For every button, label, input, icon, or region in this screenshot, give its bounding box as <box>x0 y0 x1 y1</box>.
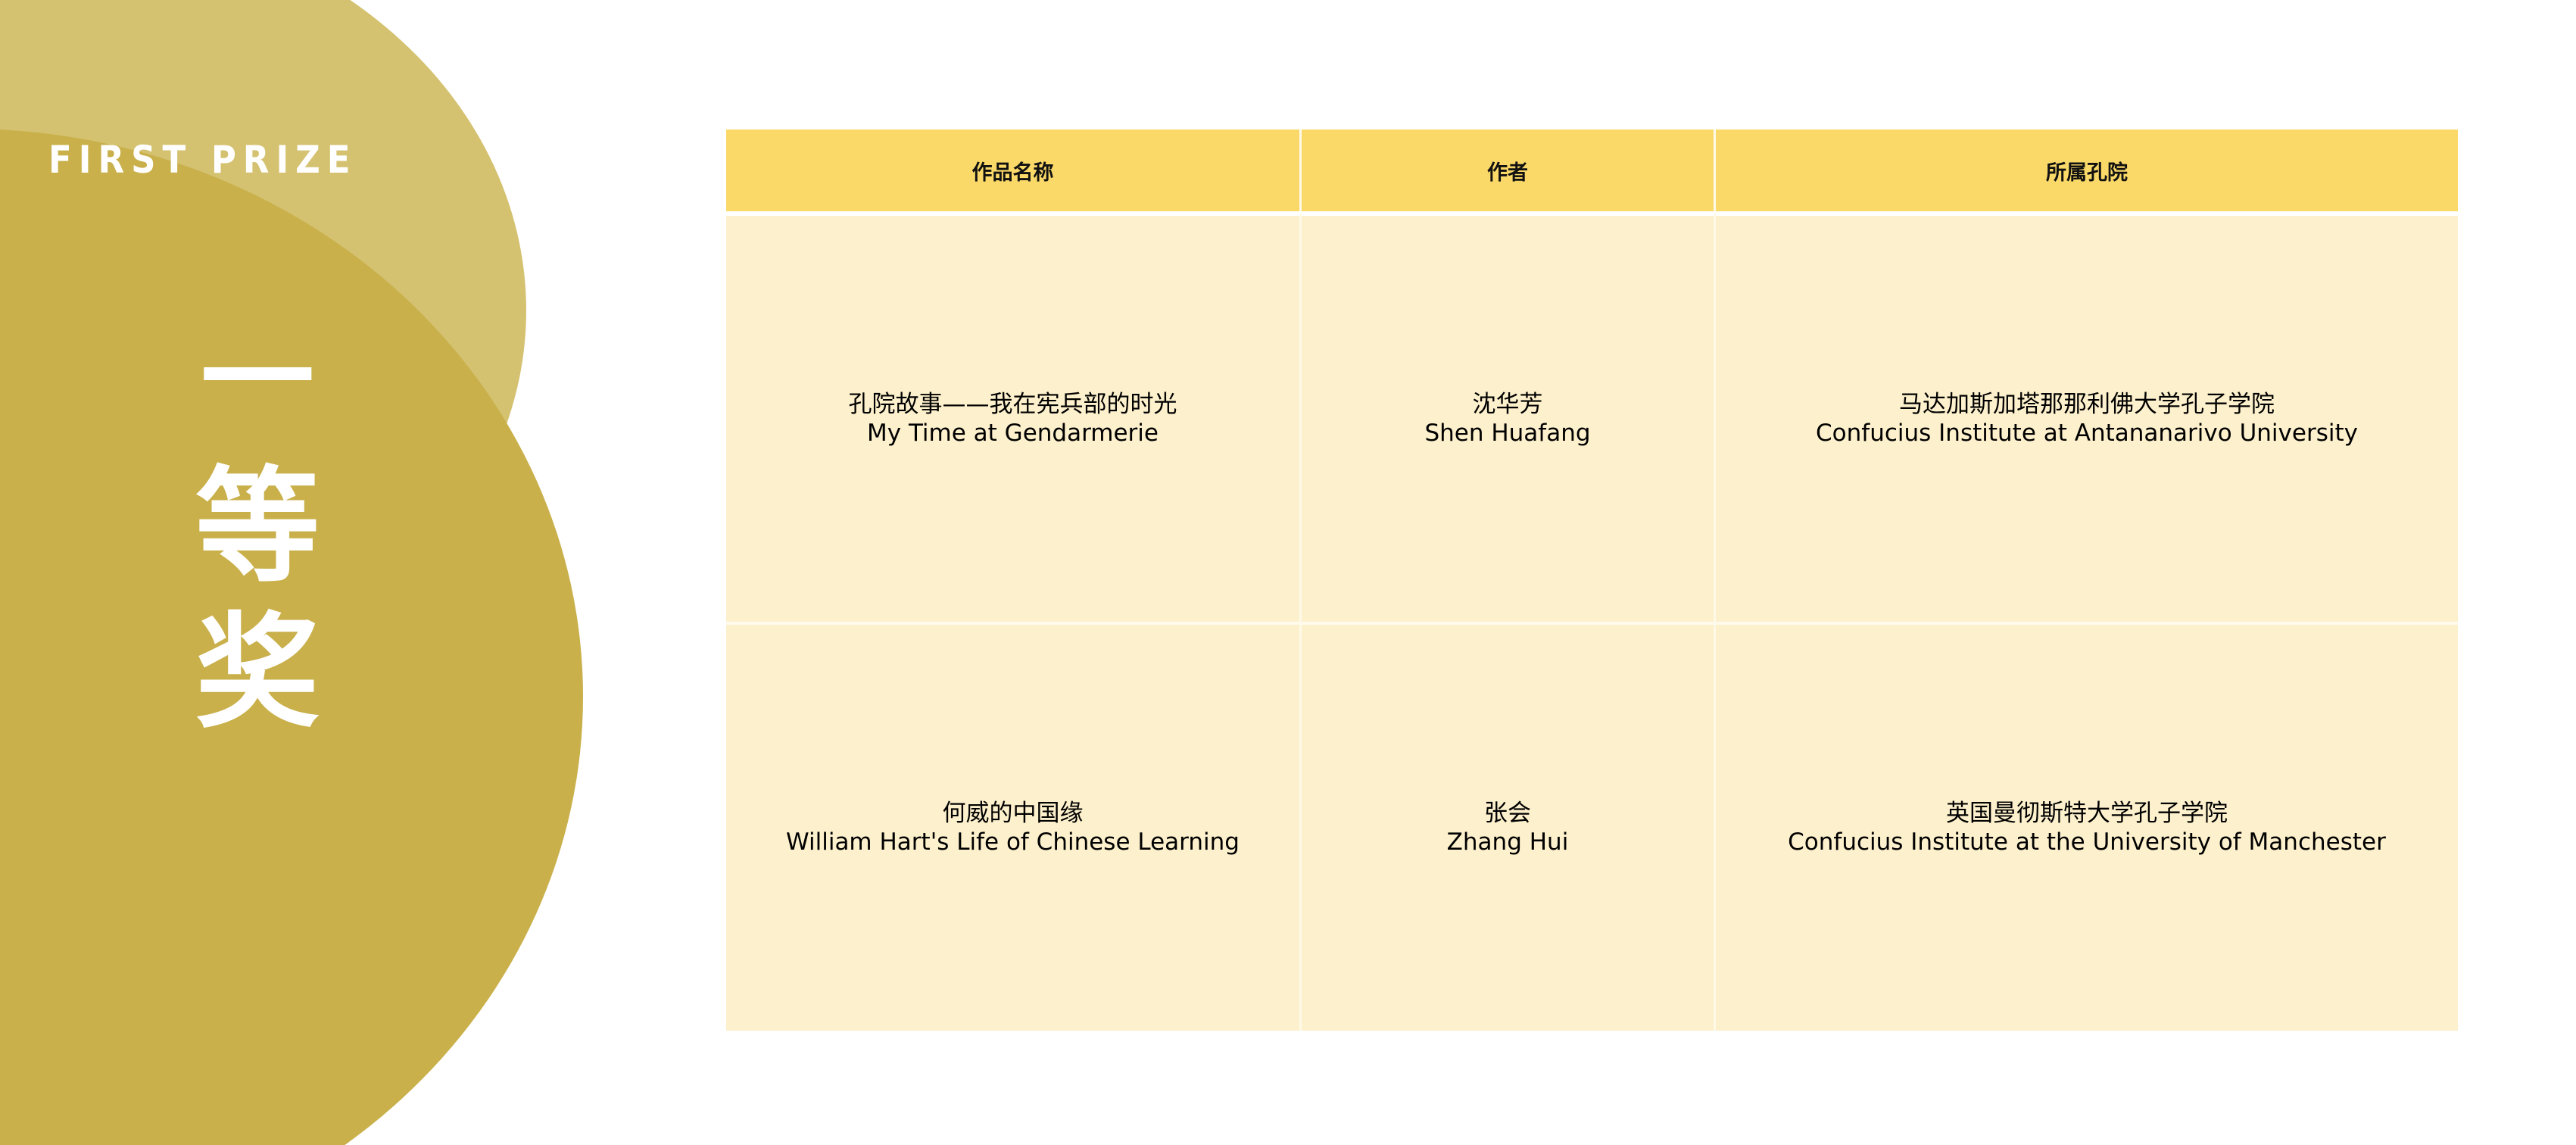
institute-zh: 英国曼彻斯特大学孔子学院 <box>1732 799 2441 828</box>
author-zh: 沈华芳 <box>1318 390 1697 419</box>
column-header-title: 作品名称 <box>726 129 1302 211</box>
winners-table: 作品名称 作者 所属孔院 孔院故事——我在宪兵部的时光 My Time at G… <box>726 129 2458 1031</box>
table-row: 何威的中国缘 William Hart's Life of Chinese Le… <box>726 622 2458 1031</box>
column-header-author: 作者 <box>1302 129 1716 211</box>
cell-author: 沈华芳 Shen Huafang <box>1302 211 1716 622</box>
work-title-zh: 何威的中国缘 <box>743 799 1283 828</box>
author-en: Shen Huafang <box>1318 419 1697 448</box>
author-en: Zhang Hui <box>1318 828 1697 856</box>
award-panel: FIRST PRIZE 一 等 奖 <box>0 0 606 1145</box>
column-header-institute: 所属孔院 <box>1716 129 2458 211</box>
work-title-en: William Hart's Life of Chinese Learning <box>743 828 1283 856</box>
institute-en: Confucius Institute at the University of… <box>1732 828 2441 856</box>
cell-work-title: 孔院故事——我在宪兵部的时光 My Time at Gendarmerie <box>726 211 1302 622</box>
award-rank-char-jiang: 奖 <box>0 600 515 747</box>
institute-en: Confucius Institute at Antananarivo Univ… <box>1732 419 2441 448</box>
cell-institute: 英国曼彻斯特大学孔子学院 Confucius Institute at the … <box>1716 622 2458 1031</box>
work-title-en: My Time at Gendarmerie <box>743 419 1283 448</box>
award-rank-char-deng: 等 <box>0 454 515 601</box>
table-row: 孔院故事——我在宪兵部的时光 My Time at Gendarmerie 沈华… <box>726 211 2458 622</box>
work-title-zh: 孔院故事——我在宪兵部的时光 <box>743 390 1283 419</box>
author-zh: 张会 <box>1318 799 1697 828</box>
institute-zh: 马达加斯加塔那那利佛大学孔子学院 <box>1732 390 2441 419</box>
award-rank-word: 等 奖 <box>0 454 515 747</box>
first-prize-english-label: FIRST PRIZE <box>48 141 357 179</box>
cell-author: 张会 Zhang Hui <box>1302 622 1716 1031</box>
award-rank-stack: 一 等 奖 <box>0 326 515 747</box>
table-header-row: 作品名称 作者 所属孔院 <box>726 129 2458 211</box>
cell-institute: 马达加斯加塔那那利佛大学孔子学院 Confucius Institute at … <box>1716 211 2458 622</box>
award-rank-numeral: 一 <box>0 326 515 434</box>
cell-work-title: 何威的中国缘 William Hart's Life of Chinese Le… <box>726 622 1302 1031</box>
